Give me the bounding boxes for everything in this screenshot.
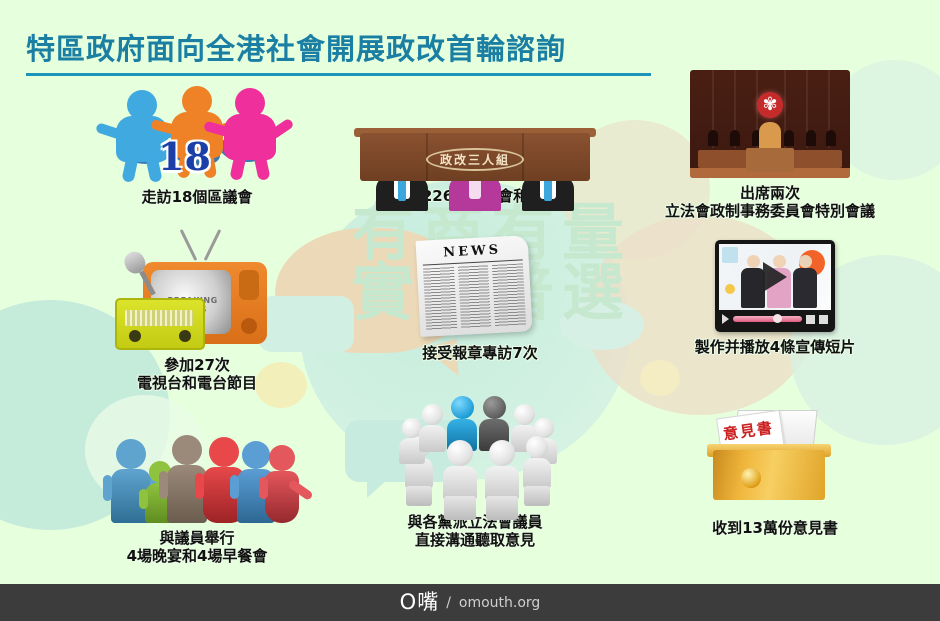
item-dinners-breakfasts: 與議員舉行 4場晚宴和4場早餐會 bbox=[72, 418, 322, 566]
play-button-icon[interactable] bbox=[763, 262, 787, 292]
volume-icon[interactable] bbox=[806, 315, 815, 324]
item-caption: 出席兩次 立法會政制事務委員會特別會議 bbox=[625, 184, 915, 221]
item-submissions-received: 意見書 收到13萬份意見書 bbox=[640, 408, 910, 537]
podium-sign-label: 政改三人組 bbox=[426, 148, 524, 171]
item-caption: 接受報章專訪7次 bbox=[355, 344, 605, 362]
background-blob bbox=[640, 360, 680, 396]
newspaper-icon: NEWS bbox=[418, 238, 543, 338]
play-icon[interactable] bbox=[722, 314, 729, 324]
infographic-canvas: 有商有量 實現普選 特區政府面向全港社會開展政改首輪諮詢 bbox=[0, 0, 940, 621]
footer-separator: / bbox=[446, 595, 451, 611]
district-count-badge: 18 bbox=[158, 134, 211, 179]
podium-trio-icon: 政改三人組 bbox=[360, 76, 590, 181]
hk-emblem-icon bbox=[757, 92, 783, 118]
newspaper-masthead: NEWS bbox=[415, 241, 528, 262]
item-caption: 製作并播放4條宣傳短片 bbox=[640, 338, 910, 356]
footer-url: omouth.org bbox=[459, 595, 540, 611]
progress-slider[interactable] bbox=[733, 316, 802, 322]
item-caption: 參加27次 電視台和電台節目 bbox=[72, 356, 322, 393]
round-table-meeting-icon bbox=[385, 392, 565, 507]
legco-chamber-icon bbox=[690, 70, 850, 178]
item-caption: 與議員舉行 4場晚宴和4場早餐會 bbox=[72, 529, 322, 566]
logo-circle: O bbox=[400, 592, 417, 613]
opinion-box-icon: 意見書 bbox=[705, 408, 845, 513]
three-people-18-logo-icon: 18 bbox=[112, 82, 282, 182]
site-footer: O嘴 / omouth.org bbox=[0, 584, 940, 621]
six-people-icon bbox=[105, 418, 290, 523]
tv-radio-icon: BREAKING NEWS bbox=[115, 240, 280, 350]
item-newspaper-interviews: NEWS 接受報章專訪7次 bbox=[355, 238, 605, 362]
item-tv-radio-programmes: BREAKING NEWS 參加27次 電視台和電台節目 bbox=[72, 240, 322, 393]
page-title: 特區政府面向全港社會開展政改首輪諮詢 bbox=[26, 26, 651, 68]
item-caption: 收到13萬份意見書 bbox=[640, 519, 910, 537]
item-district-councils: 18 走訪18個區議會 bbox=[72, 82, 322, 206]
page-title-block: 特區政府面向全港社會開展政改首輪諮詢 bbox=[26, 26, 651, 76]
item-promo-videos: 製作并播放4條宣傳短片 bbox=[640, 240, 910, 356]
video-player-icon bbox=[715, 240, 835, 332]
item-legco-special-meetings: 出席兩次 立法會政制事務委員會特別會議 bbox=[625, 70, 915, 221]
omouth-logo[interactable]: O嘴 bbox=[400, 592, 439, 613]
fullscreen-icon[interactable] bbox=[819, 315, 828, 324]
item-forums-and-talks: 政改三人組 出席226場座談會和講座 bbox=[340, 76, 610, 205]
item-legco-direct-communication: 與各黨派立法會議員 直接溝通聽取意見 bbox=[340, 392, 610, 550]
item-caption: 走訪18個區議會 bbox=[72, 188, 322, 206]
video-controls[interactable] bbox=[719, 310, 831, 328]
logo-word: 嘴 bbox=[417, 592, 438, 613]
